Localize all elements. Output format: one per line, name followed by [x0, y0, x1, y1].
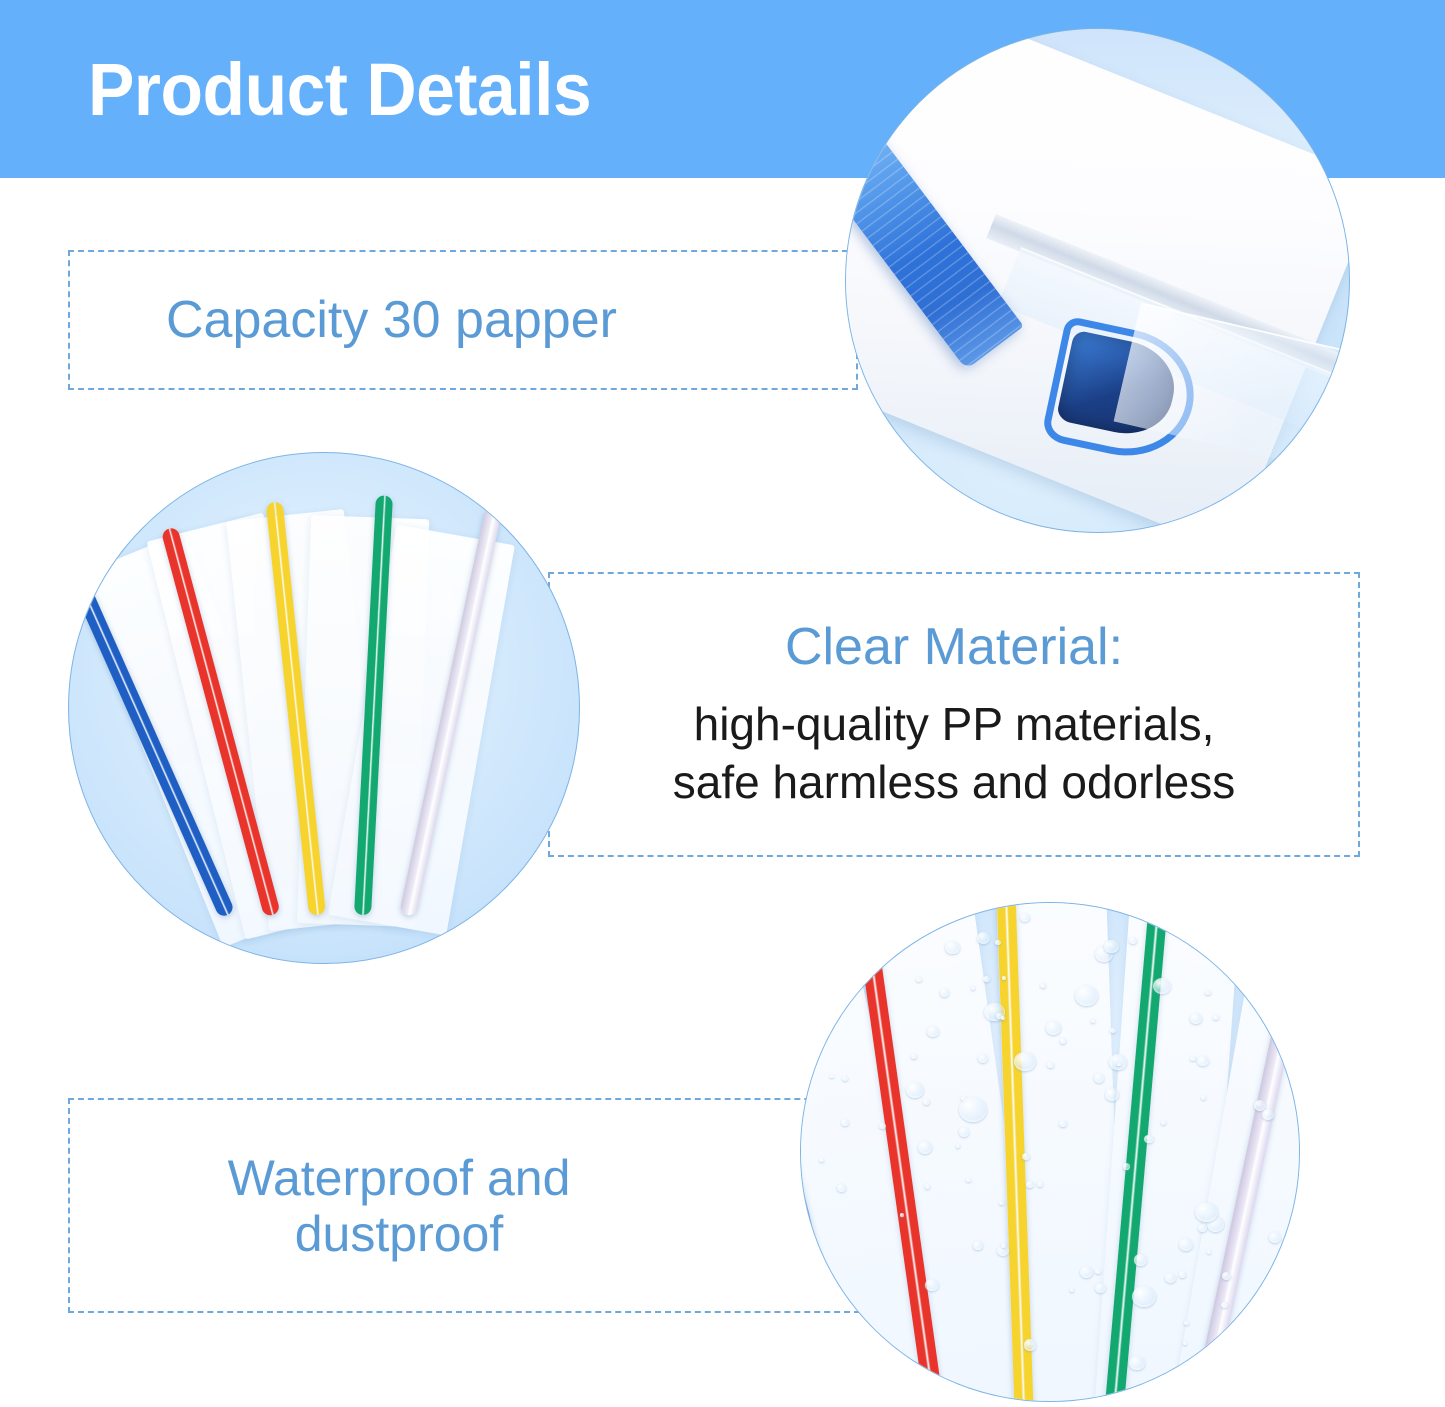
- water-droplet: [995, 940, 1000, 945]
- water-droplet: [918, 1141, 932, 1154]
- water-droplet: [1144, 1135, 1154, 1144]
- water-droplet: [923, 1099, 930, 1105]
- callout-clear-material-heading: Clear Material:: [564, 618, 1344, 676]
- water-droplet: [940, 988, 949, 996]
- water-droplet: [879, 1123, 886, 1129]
- water-droplet: [1047, 1062, 1053, 1068]
- callout-clear-material-body: high-quality PP materials, safe harmless…: [564, 696, 1344, 811]
- callout-waterproof: Waterproof and dustproof: [68, 1098, 860, 1313]
- water-droplet: [983, 976, 990, 982]
- water-droplet: [1094, 1073, 1104, 1082]
- water-droplet: [1195, 1202, 1217, 1222]
- water-droplet: [916, 977, 922, 982]
- water-droplet: [1024, 1339, 1037, 1350]
- callout-capacity-heading: Capacity 30 papper: [166, 291, 856, 349]
- water-droplet: [819, 1158, 824, 1162]
- callout-clear-material: Clear Material: high-quality PP material…: [548, 572, 1360, 857]
- water-droplet: [973, 1241, 983, 1250]
- callout-waterproof-inner: Waterproof and dustproof: [70, 1150, 858, 1262]
- water-droplet: [830, 1075, 834, 1079]
- callout-capacity: Capacity 30 papper: [68, 250, 858, 390]
- water-droplet: [1123, 1163, 1131, 1170]
- callout-clear-material-body-line-2: safe harmless and odorless: [564, 754, 1344, 812]
- water-droplet: [1184, 1321, 1188, 1325]
- water-droplet: [1205, 990, 1211, 995]
- water-droplet: [1037, 1181, 1043, 1186]
- water-droplet: [1040, 983, 1046, 988]
- water-droplet: [1198, 1224, 1207, 1232]
- water-droplet: [906, 1082, 924, 1098]
- water-droplet: [925, 1184, 931, 1189]
- callout-clear-material-body-line-1: high-quality PP materials,: [564, 696, 1344, 754]
- photo-waterproof-drops: [800, 902, 1300, 1402]
- water-droplet: [956, 1144, 960, 1148]
- water-droplet: [1190, 1056, 1196, 1062]
- water-droplet: [959, 1097, 986, 1122]
- water-droplet: [1046, 1021, 1061, 1035]
- water-droplet: [1134, 1254, 1147, 1265]
- water-droplet: [1105, 1088, 1119, 1101]
- water-droplet: [971, 986, 975, 990]
- water-droplet: [1104, 940, 1118, 953]
- water-droplet: [1060, 1038, 1067, 1044]
- water-droplet: [966, 1178, 971, 1182]
- photo-color-fan: [68, 452, 580, 964]
- water-droplet: [841, 1119, 849, 1126]
- water-droplet: [1262, 1109, 1274, 1120]
- water-droplet: [837, 1184, 846, 1192]
- water-droplet: [1110, 1028, 1115, 1033]
- water-droplet: [1153, 978, 1171, 994]
- water-droplet: [1014, 1052, 1036, 1071]
- callout-waterproof-heading-line-1: Waterproof and: [70, 1150, 728, 1206]
- water-droplet: [925, 1279, 939, 1291]
- water-droplet: [945, 941, 960, 954]
- photo-binder-closeup: [845, 28, 1350, 533]
- water-droplet: [1070, 1288, 1074, 1292]
- water-droplet: [1001, 1243, 1007, 1248]
- water-droplet: [1129, 937, 1137, 944]
- callout-capacity-inner: Capacity 30 papper: [70, 291, 856, 349]
- water-droplet: [900, 1213, 904, 1217]
- page-title: Product Details: [88, 47, 591, 132]
- water-droplet: [1197, 1056, 1209, 1067]
- water-droplet: [977, 932, 990, 944]
- callout-clear-material-inner: Clear Material: high-quality PP material…: [550, 618, 1358, 811]
- callout-waterproof-heading-line-2: dustproof: [70, 1206, 728, 1262]
- water-droplet: [842, 1076, 848, 1081]
- water-droplet: [1095, 1283, 1106, 1293]
- water-droplet: [999, 1201, 1003, 1205]
- water-droplet: [1221, 1302, 1228, 1309]
